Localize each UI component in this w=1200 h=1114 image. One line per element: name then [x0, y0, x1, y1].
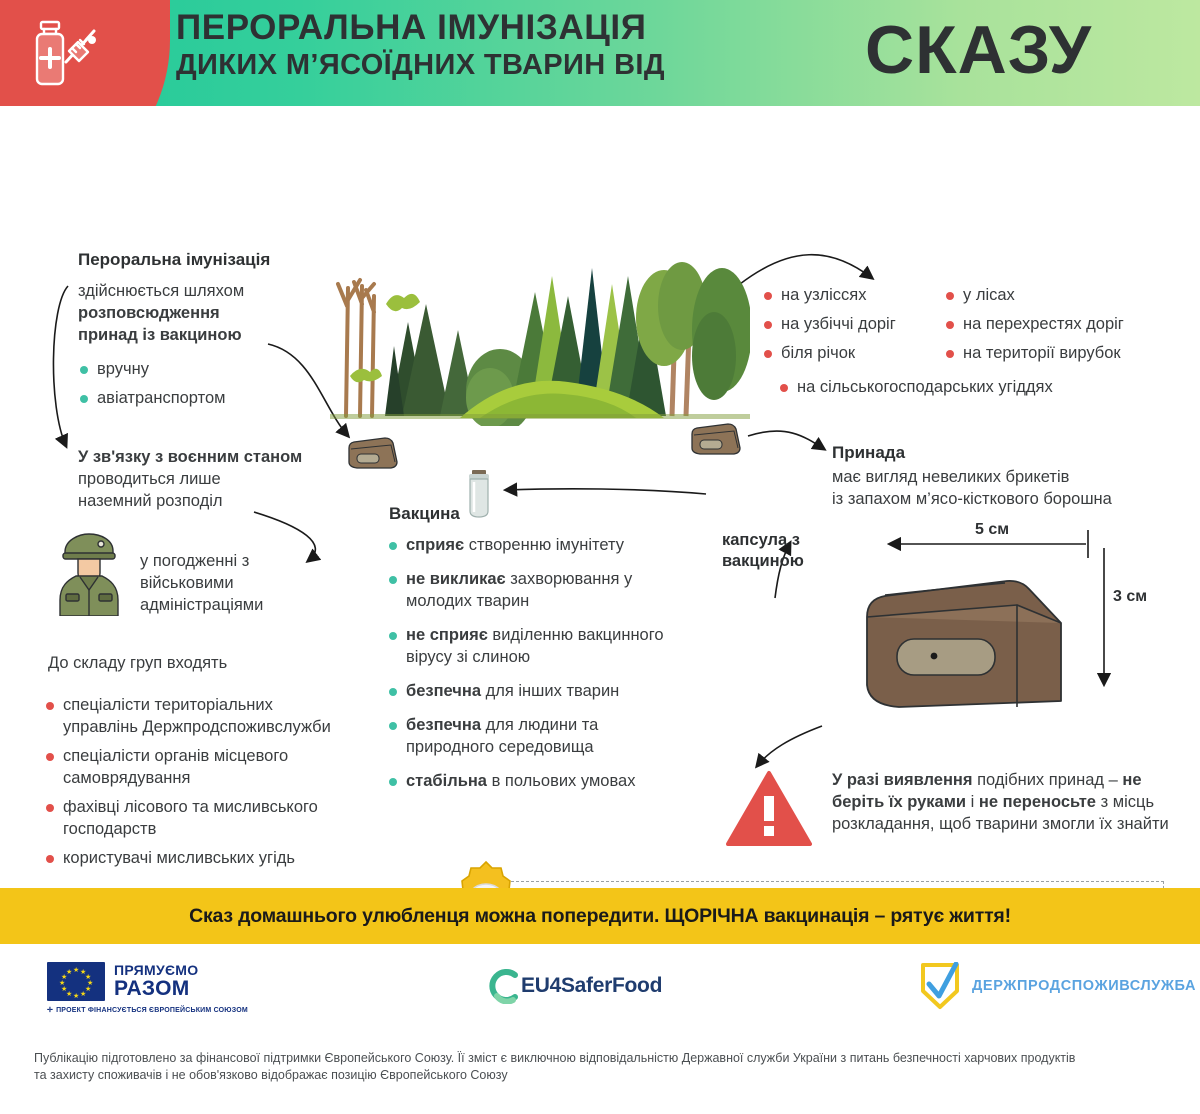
disclaimer-line1: Публікацію підготовлено за фінансової пі…	[34, 1050, 1174, 1067]
list-item: біля річок	[762, 342, 952, 364]
list-item: на перехрестях доріг	[944, 313, 1194, 335]
plus-icon: ✛	[47, 1007, 53, 1014]
dimension-height-arrow	[1088, 546, 1148, 696]
list-item: безпечна для людини та природного середо…	[387, 714, 687, 758]
martial-law-note: У зв'язку з воєнним станом проводиться л…	[78, 446, 338, 512]
eu-logo-subtitle-text: ПРОЕКТ ФІНАНСУЄТЬСЯ ЄВРОПЕЙСЬКИМ СОЮЗОМ	[56, 1007, 248, 1014]
page-footer: ★ ★ ★ ★ ★ ★ ★ ★ ★ ★ ★ ★ ПРЯМУЄМО РАЗОМ ✛…	[0, 944, 1200, 1114]
agreement-line1: у погодженні з	[140, 550, 320, 572]
item-bold: стабільна	[406, 772, 487, 790]
bait-brick-small-icon	[688, 422, 744, 456]
title-line-1: ПЕРОРАЛЬНА ІМУНІЗАЦІЯ	[176, 8, 646, 48]
eu4saferfood-swirl-icon	[487, 968, 521, 1004]
bottom-banner: Сказ домашнього улюбленця можна попереди…	[0, 888, 1200, 944]
intro-bold-line2: принад із вакциною	[78, 324, 328, 346]
forest-illustration	[330, 226, 750, 426]
list-item: фахівці лісового та мисливського господа…	[44, 796, 344, 840]
shield-check-icon	[920, 962, 960, 1010]
bait-desc-line2: із запахом м’ясо-кісткового борошна	[832, 488, 1200, 510]
footer-disclaimer: Публікацію підготовлено за фінансової пі…	[34, 1050, 1174, 1084]
page-header: ПЕРОРАЛЬНА ІМУНІЗАЦІЯ ДИКИХ М’ЯСОЇДНИХ Т…	[0, 0, 1200, 106]
warning-text: У разі виявлення подібних принад – не бе…	[832, 769, 1192, 835]
vaccine-vial-icon	[462, 469, 496, 519]
list-item: сприяє створенню імунітету	[387, 534, 687, 556]
eu4saferfood-text: EU4SaferFood	[521, 974, 662, 998]
item-bold: сприяє	[406, 536, 464, 554]
locations-column-2: у лісах на перехрестях доріг на територі…	[944, 284, 1194, 371]
list-item: вручну	[78, 358, 308, 380]
item-rest: в польових умовах	[487, 772, 636, 790]
list-item: безпечна для інших тварин	[387, 680, 687, 702]
list-item: не викликає захворювання у молодих твари…	[387, 568, 687, 612]
item-bold: не сприяє	[406, 626, 488, 644]
list-item: спеціалісти територіальних управлінь Дер…	[44, 694, 344, 738]
capsule-label-line1: капсула з	[722, 530, 842, 551]
list-item: спеціалісти органів місцевого самоврядув…	[44, 745, 344, 789]
groups-title: До складу груп входять	[48, 654, 227, 673]
banner-text: Сказ домашнього улюбленця можна попереди…	[189, 905, 1011, 928]
list-item: стабільна в польових умовах	[387, 770, 687, 792]
distribution-ways-list: вручну авіатранспортом	[78, 358, 308, 416]
list-item: не сприяє виділенню вакцинного вірусу зі…	[387, 624, 687, 668]
list-item: на узліссях	[762, 284, 952, 306]
martial-line2: наземний розподіл	[78, 490, 338, 512]
dimension-width-label: 5 см	[975, 521, 1009, 539]
disclaimer-line2: та захисту споживачів і не обов'язково в…	[34, 1067, 1174, 1084]
soldier-icon	[52, 530, 126, 616]
eu-logo-word2: РАЗОМ	[114, 978, 198, 1000]
locations-wide-row: на сільськогосподарських угіддях	[778, 376, 1178, 405]
groups-list: спеціалісти територіальних управлінь Дер…	[44, 694, 344, 876]
agreement-line2: військовими	[140, 572, 320, 594]
vaccine-bottle-syringe-icon	[28, 18, 102, 90]
list-item: у лісах	[944, 284, 1194, 306]
item-bold: безпечна	[406, 682, 481, 700]
derzhprodspozhyvsluzhba-logo: ДЕРЖПРОДСПОЖИВСЛУЖБА	[920, 962, 1196, 1010]
bait-brick-large-icon	[855, 561, 1100, 716]
eu-logo-words: ПРЯМУЄМО РАЗОМ	[114, 963, 198, 1000]
section-title-oral-immunization: Пероральна імунізація	[78, 250, 270, 270]
military-agreement-note: у погодженні з військовими адміністрація…	[140, 550, 320, 616]
capsule-label-line2: вакциною	[722, 551, 842, 572]
locations-column-1: на узліссях на узбіччі доріг біля річок	[762, 284, 952, 371]
bait-desc-line1: має вигляд невеликих брикетів	[832, 466, 1200, 488]
martial-bold: У зв'язку з воєнним станом	[78, 446, 338, 468]
eu4saferfood-logo: EU4SaferFood	[487, 968, 662, 1004]
eu-flag-icon: ★ ★ ★ ★ ★ ★ ★ ★ ★ ★ ★ ★	[47, 962, 105, 1001]
list-item: користувачі мисливських угідь	[44, 847, 344, 869]
title-big-word: СКАЗУ	[865, 2, 1092, 98]
bait-description: має вигляд невеликих брикетів із запахом…	[832, 466, 1200, 510]
eu-logo-subtitle: ✛ПРОЕКТ ФІНАНСУЄТЬСЯ ЄВРОПЕЙСЬКИМ СОЮЗОМ	[47, 1006, 248, 1014]
capsule-label: капсула з вакциною	[722, 530, 842, 572]
martial-line1: проводиться лише	[78, 468, 338, 490]
item-bold: безпечна	[406, 716, 481, 734]
list-item: на території вирубок	[944, 342, 1194, 364]
agreement-line3: адміністраціями	[140, 594, 320, 616]
section-title-bait: Принада	[832, 443, 905, 463]
derzhprodspozhyvsluzhba-text: ДЕРЖПРОДСПОЖИВСЛУЖБА	[972, 978, 1196, 994]
list-item: на узбіччі доріг	[762, 313, 952, 335]
list-item: авіатранспортом	[78, 387, 308, 409]
bait-brick-small-icon	[345, 436, 401, 470]
eu-logo-word1: ПРЯМУЄМО	[114, 963, 198, 978]
warn-bold-3: не переносьте	[979, 793, 1096, 811]
warn-bold-1: У разі виявлення	[832, 771, 973, 789]
oral-immunization-intro: здійснюється шляхом розповсюдження прина…	[78, 280, 328, 346]
warn-normal-1: подібних принад –	[973, 771, 1123, 789]
main-canvas: Пероральна імунізація здійснюється шляхо…	[0, 106, 1200, 888]
list-item: на сільськогосподарських угіддях	[778, 376, 1178, 398]
item-rest: для інших тварин	[481, 682, 619, 700]
intro-bold-line1: розповсюдження	[78, 302, 328, 324]
eu-together-logo: ★ ★ ★ ★ ★ ★ ★ ★ ★ ★ ★ ★ ПРЯМУЄМО РАЗОМ	[47, 962, 198, 1001]
footer-logos: ★ ★ ★ ★ ★ ★ ★ ★ ★ ★ ★ ★ ПРЯМУЄМО РАЗОМ ✛…	[0, 944, 1200, 1030]
intro-normal: здійснюється шляхом	[78, 280, 328, 302]
item-rest: створенню імунітету	[464, 536, 624, 554]
section-title-vaccine: Вакцина	[389, 504, 460, 524]
warning-triangle-icon	[726, 770, 812, 848]
warn-normal-2: і	[966, 793, 979, 811]
item-bold: не викликає	[406, 570, 506, 588]
dimension-height-label: 3 см	[1113, 588, 1147, 606]
vaccine-properties-list: сприяє створенню імунітету не викликає з…	[387, 534, 687, 804]
